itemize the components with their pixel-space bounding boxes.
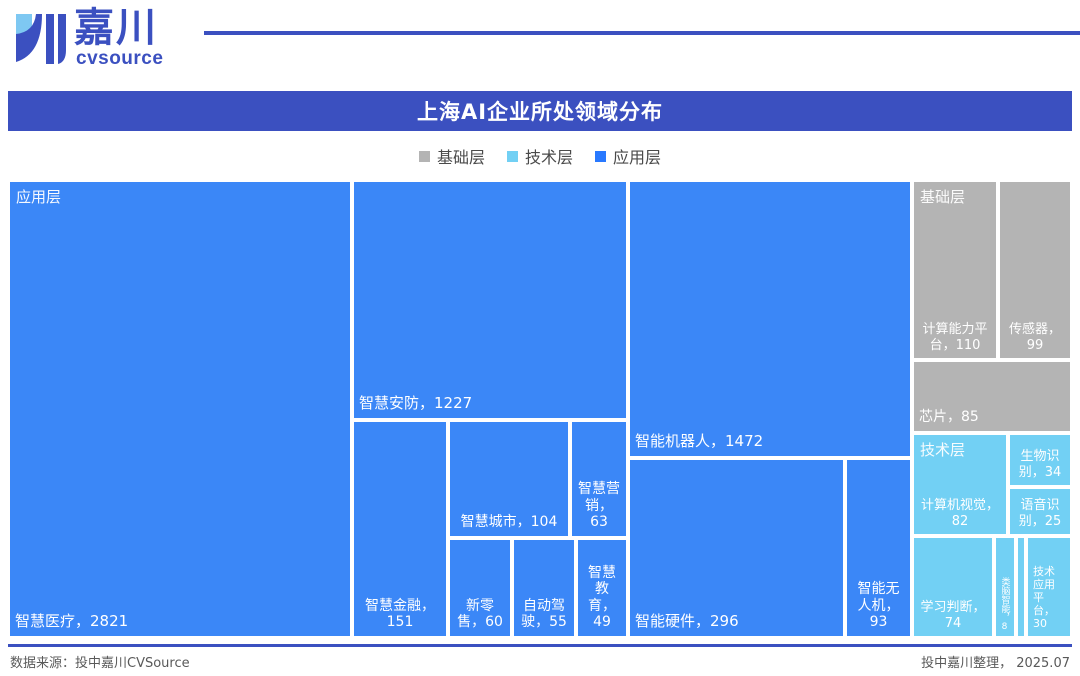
treemap-label-zhineng-wurenji: 智能无人机，93: [847, 581, 910, 631]
treemap-cell-jisuan-nengli-pingtai[interactable]: 基础层 计算能力平台，110: [912, 180, 998, 360]
treemap-cell-zhihui-anfang[interactable]: 智慧安防，1227: [352, 180, 628, 420]
treemap-cell-shengwu-shibie[interactable]: 生物识别，34: [1008, 433, 1072, 487]
page-header: 嘉川 cvsource: [0, 0, 1080, 86]
treemap-label-jisuan-nengli-pingtai: 计算能力平台，110: [914, 322, 996, 353]
treemap-cell-zhineng-yingjian[interactable]: 智能硬件，296: [628, 458, 845, 638]
chart-title-bar: 上海AI企业所处领域分布: [8, 91, 1072, 131]
treemap-cell-xinpian[interactable]: 芯片，85: [912, 360, 1072, 433]
treemap-group-label-app: 应用层: [10, 186, 67, 207]
treemap-label-zhihui-jiaoyu: 智慧教育，49: [578, 565, 626, 631]
treemap-cell-spacer: [1016, 536, 1026, 638]
treemap-label-yuyin-shibie: 语音识别，25: [1010, 498, 1070, 529]
treemap-label-leinao-zhineng: 类脑智能，8: [999, 577, 1008, 632]
treemap-chart: 应用层 智慧医疗，2821 智慧安防，1227 智慧金融，151 智慧城市，10…: [8, 180, 1072, 638]
treemap-cell-xin-lingshou[interactable]: 新零售，60: [448, 538, 512, 638]
treemap-label-xinpian: 芯片，85: [914, 409, 1070, 426]
treemap-cell-zhineng-jiqiren[interactable]: 智能机器人，1472: [628, 180, 912, 458]
treemap-label-zhihui-jinrong: 智慧金融，151: [354, 598, 446, 631]
treemap-label-zhihui-chengshi: 智慧城市，104: [450, 514, 568, 531]
treemap-group-label-tech: 技术层: [914, 439, 971, 460]
legend-item-app[interactable]: 应用层: [595, 144, 661, 168]
chart-legend: 基础层 技术层 应用层: [0, 143, 1080, 169]
legend-label-tech: 技术层: [525, 144, 573, 168]
treemap-label-jishu-yingyong-pingtai: 技术应用平台，30: [1028, 566, 1070, 631]
treemap-cell-zhineng-wurenji[interactable]: 智能无人机，93: [845, 458, 912, 638]
treemap-label-shengwu-shibie: 生物识别，34: [1010, 449, 1070, 480]
legend-item-base[interactable]: 基础层: [419, 144, 485, 168]
treemap-cell-zhihui-chengshi[interactable]: 智慧城市，104: [448, 420, 570, 538]
treemap-label-xin-lingshou: 新零售，60: [450, 598, 510, 631]
legend-item-tech[interactable]: 技术层: [507, 144, 573, 168]
footer-source: 数据来源：投中嘉川CVSource: [10, 652, 190, 671]
treemap-cell-chuanganqi[interactable]: 传感器，99: [998, 180, 1072, 360]
brand-name-en: cvsource: [76, 48, 163, 70]
treemap-cell-leinao-zhineng[interactable]: 类脑智能，8: [994, 536, 1016, 638]
treemap-cell-xuexi-panduan[interactable]: 学习判断，74: [912, 536, 994, 638]
cvsource-mark-icon: [12, 10, 70, 68]
treemap-cell-zhihui-jinrong[interactable]: 智慧金融，151: [352, 420, 448, 638]
treemap-cell-zidong-jiashi[interactable]: 自动驾驶，55: [512, 538, 576, 638]
legend-swatch-base: [419, 151, 430, 162]
legend-label-base: 基础层: [437, 144, 485, 168]
brand-name-cn: 嘉川: [74, 6, 158, 50]
footer-divider: [8, 644, 1072, 647]
legend-label-app: 应用层: [613, 144, 661, 168]
treemap-cell-jisuanji-shijue[interactable]: 技术层 计算机视觉，82: [912, 433, 1008, 536]
treemap-cell-zhihui-yingxiao[interactable]: 智慧营销，63: [570, 420, 628, 538]
treemap-label-zhihui-yingxiao: 智慧营销，63: [572, 481, 626, 531]
treemap-group-label-base: 基础层: [914, 186, 971, 207]
treemap-label-zidong-jiashi: 自动驾驶，55: [514, 598, 574, 631]
treemap-label-zhihui-anfang: 智慧安防，1227: [354, 395, 626, 413]
treemap-cell-jishu-yingyong-pingtai[interactable]: 技术应用平台，30: [1026, 536, 1072, 638]
treemap-label-zhihui-yiliao: 智慧医疗，2821: [10, 613, 350, 631]
legend-swatch-tech: [507, 151, 518, 162]
treemap-cell-zhihui-yiliao[interactable]: 应用层 智慧医疗，2821: [8, 180, 352, 638]
page-title: 上海AI企业所处领域分布: [417, 96, 663, 126]
header-divider: [204, 31, 1080, 35]
brand-logo: 嘉川 cvsource: [8, 4, 198, 74]
treemap-cell-zhihui-jiaoyu[interactable]: 智慧教育，49: [576, 538, 628, 638]
footer-credit: 投中嘉川整理， 2025.07: [921, 652, 1070, 671]
treemap-label-xuexi-panduan: 学习判断，74: [914, 600, 992, 631]
treemap-cell-yuyin-shibie[interactable]: 语音识别，25: [1008, 487, 1072, 536]
treemap-label-zhineng-yingjian: 智能硬件，296: [630, 613, 843, 631]
treemap-label-zhineng-jiqiren: 智能机器人，1472: [630, 433, 910, 451]
treemap-label-jisuanji-shijue: 计算机视觉，82: [914, 498, 1006, 529]
treemap-label-chuanganqi: 传感器，99: [1000, 322, 1070, 353]
legend-swatch-app: [595, 151, 606, 162]
